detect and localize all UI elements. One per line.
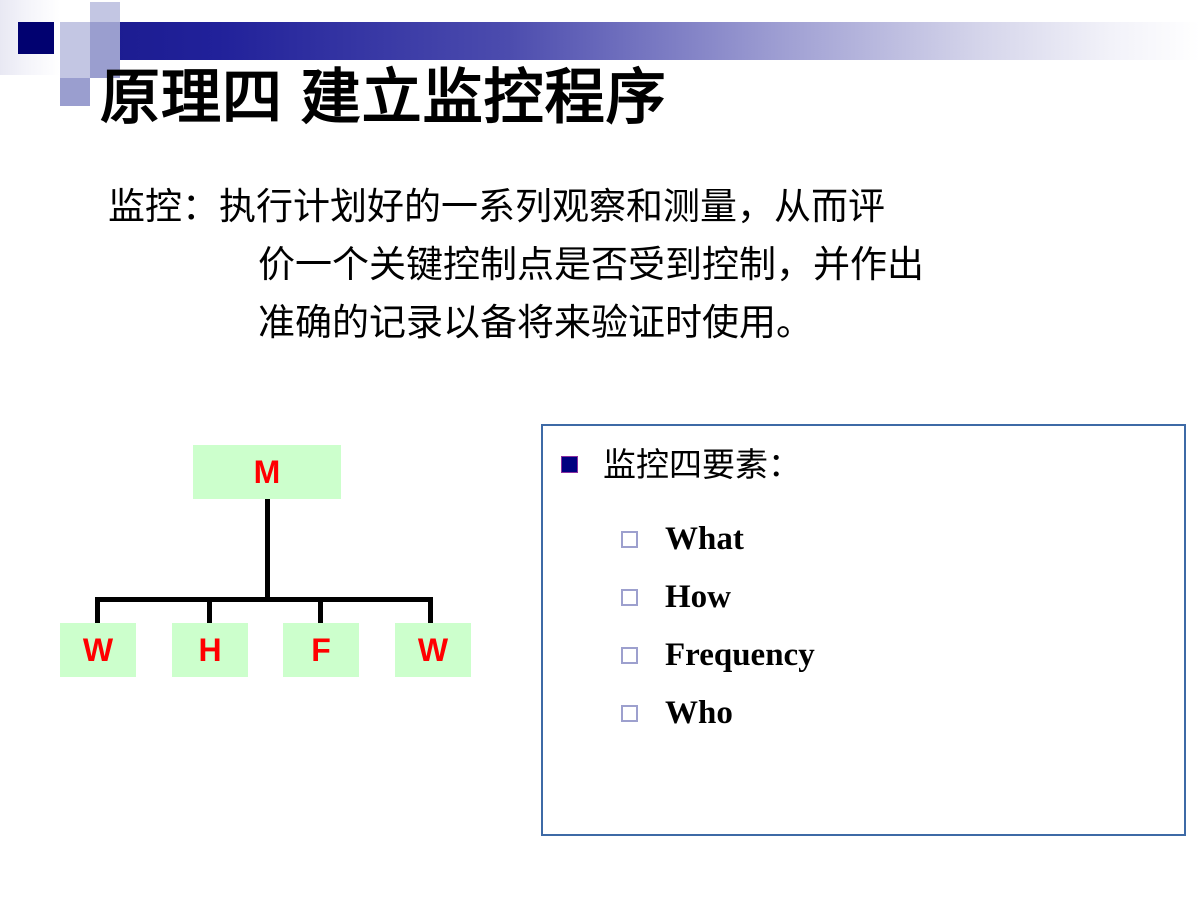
hollow-square-bullet-icon	[621, 589, 638, 606]
monitoring-tree-diagram: M W H F W	[40, 430, 510, 715]
list-item: What	[621, 510, 1161, 568]
list-item-label: Who	[665, 697, 733, 730]
panel-heading-row: 监控四要素：	[561, 448, 801, 481]
decor-square-mid-blue	[90, 22, 120, 54]
decor-square-navy	[18, 22, 54, 54]
connector-drop-4	[428, 597, 433, 626]
connector-drop-2	[207, 597, 212, 626]
list-item-label: What	[665, 523, 744, 556]
hollow-square-bullet-icon	[621, 647, 638, 664]
body-paragraph: 监控：执行计划好的一系列观察和测量，从而评 价一个关键控制点是否受到控制，并作出…	[108, 178, 1128, 352]
monitoring-elements-panel: 监控四要素： What How Frequency Who	[541, 424, 1186, 836]
decor-square-lower-lavender	[60, 54, 90, 78]
hollow-square-bullet-icon	[621, 705, 638, 722]
tree-node-leaf: F	[283, 623, 359, 677]
tree-node-leaf: H	[172, 623, 248, 677]
decor-square-top-lavender	[90, 2, 120, 22]
list-item: Who	[621, 684, 1161, 742]
list-item-label: Frequency	[665, 639, 815, 672]
tree-node-root: M	[193, 445, 341, 499]
list-item-label: How	[665, 581, 731, 614]
list-item: Frequency	[621, 626, 1161, 684]
connector-drop-1	[95, 597, 100, 626]
decor-square-mid-lavender	[60, 22, 90, 54]
tree-node-leaf: W	[60, 623, 136, 677]
monitoring-elements-list: What How Frequency Who	[621, 510, 1161, 742]
panel-heading-label: 监控四要素：	[603, 448, 801, 481]
body-line-3: 准确的记录以备将来验证时使用。	[108, 294, 1128, 352]
connector-vertical-stem	[265, 499, 270, 597]
page-title: 原理四 建立监控程序	[100, 62, 667, 134]
hollow-square-bullet-icon	[621, 531, 638, 548]
connector-horizontal-bus	[95, 597, 433, 602]
decor-square-bottom-blue	[60, 78, 90, 106]
body-line-1: 监控：执行计划好的一系列观察和测量，从而评	[108, 178, 1128, 236]
list-item: How	[621, 568, 1161, 626]
body-line-2: 价一个关键控制点是否受到控制，并作出	[108, 236, 1128, 294]
filled-square-bullet-icon	[561, 456, 578, 473]
tree-node-leaf: W	[395, 623, 471, 677]
connector-drop-3	[318, 597, 323, 626]
header-gradient-band	[85, 22, 1200, 60]
